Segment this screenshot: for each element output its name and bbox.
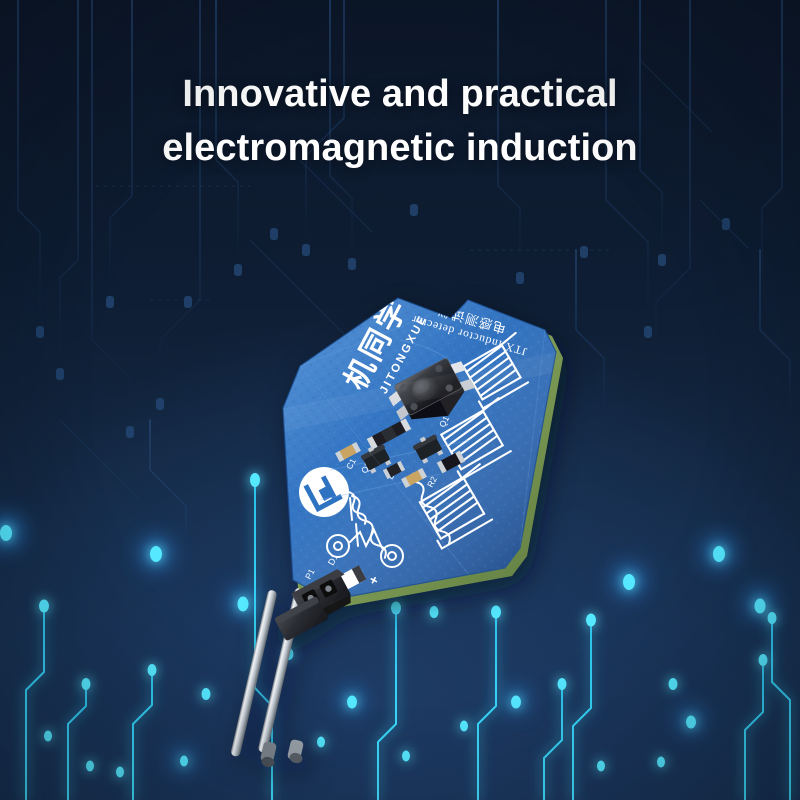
banner-stage: Innovative and practical electromagnetic…	[0, 0, 800, 800]
jtx-inductor-detector-device: JTX inductor detector 电感测试仪 机同学 JITONGXU…	[0, 0, 800, 800]
